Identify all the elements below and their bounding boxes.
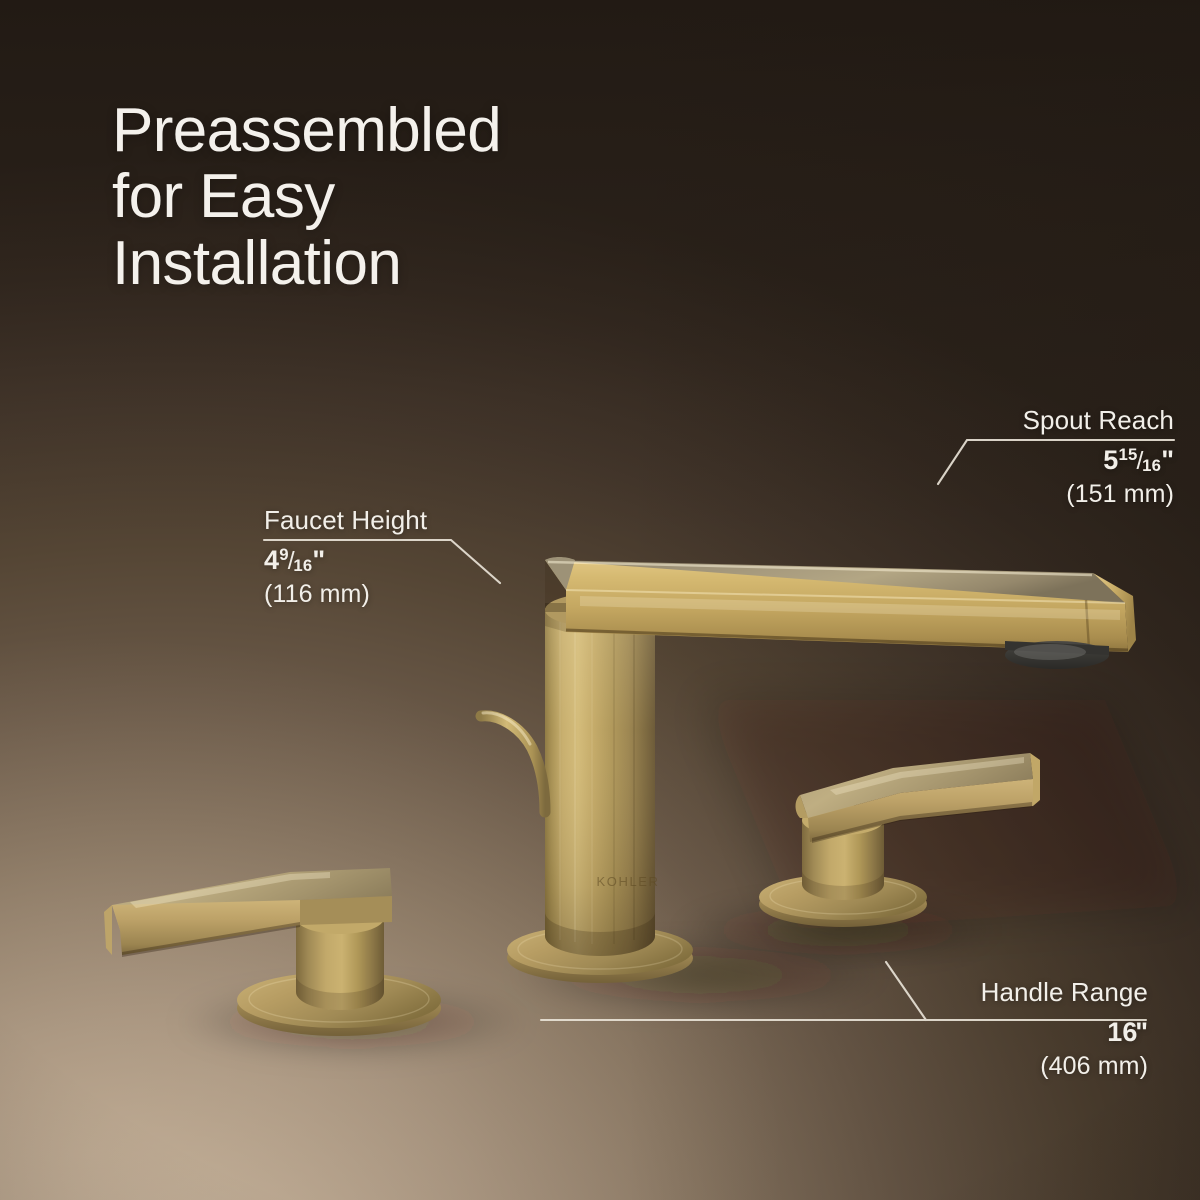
callout-faucet-height-metric: (116 mm) — [264, 580, 427, 609]
callout-handle-range: Handle Range 16" (406 mm) — [981, 977, 1148, 1081]
callout-handle-range-title: Handle Range — [981, 977, 1148, 1008]
callout-spout-reach-imperial: 515/16" — [1023, 445, 1174, 476]
sr-numerator: 15 — [1119, 445, 1138, 464]
sr-whole: 5 — [1103, 445, 1118, 475]
fh-whole: 4 — [264, 545, 279, 575]
sr-denominator: 16 — [1142, 456, 1161, 475]
product-marketing-image: KOHLER — [0, 0, 1200, 1200]
hr-inch-mark: " — [1135, 1017, 1148, 1047]
callout-faucet-height-imperial: 49/16" — [264, 545, 427, 576]
fh-numerator: 9 — [279, 545, 289, 564]
callout-faucet-height-title: Faucet Height — [264, 505, 427, 536]
sr-inch-mark: " — [1161, 445, 1174, 475]
callout-spout-reach-title: Spout Reach — [1023, 405, 1174, 436]
callout-handle-range-imperial: 16" — [981, 1017, 1148, 1048]
callout-spout-reach-metric: (151 mm) — [1023, 480, 1174, 509]
hr-whole: 16 — [1107, 1017, 1137, 1047]
callout-faucet-height: Faucet Height 49/16" (116 mm) — [264, 505, 427, 609]
fh-inch-mark: " — [312, 545, 325, 575]
callout-handle-range-metric: (406 mm) — [981, 1052, 1148, 1081]
page-title: Preassembled for Easy Installation — [112, 98, 732, 297]
callout-spout-reach: Spout Reach 515/16" (151 mm) — [1023, 405, 1174, 509]
fh-denominator: 16 — [293, 556, 312, 575]
